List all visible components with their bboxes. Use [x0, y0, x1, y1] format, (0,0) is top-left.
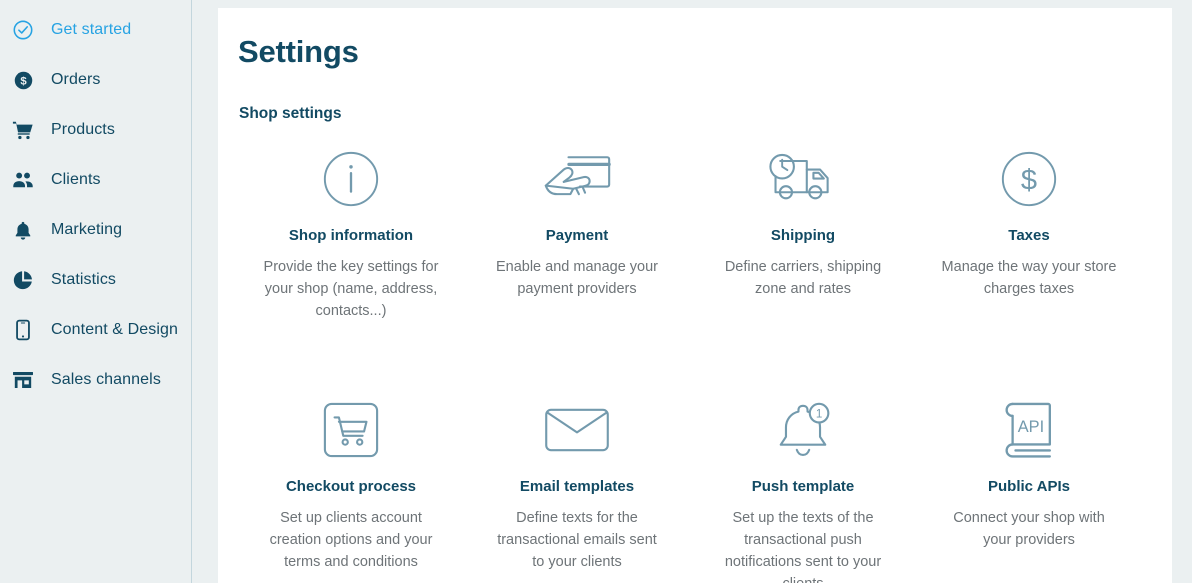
tile-title: Taxes	[1008, 227, 1049, 245]
sidebar-item-statistics[interactable]: Statistics	[0, 264, 191, 296]
tile-description: Set up the texts of the transactional pu…	[716, 507, 891, 583]
tile-title: Shipping	[771, 227, 835, 245]
people-icon	[12, 169, 34, 191]
api-icon-text: API	[1018, 418, 1044, 436]
hand-credit-card-icon	[543, 145, 611, 213]
tile-checkout-process[interactable]: Checkout process Set up clients account …	[238, 396, 464, 583]
sidebar-item-label: Orders	[51, 71, 101, 89]
tile-title: Shop information	[289, 227, 413, 245]
tile-description: Manage the way your store charges taxes	[942, 256, 1117, 300]
sidebar-item-label: Content & Design	[51, 321, 178, 339]
sidebar-item-sales-channels[interactable]: Sales channels	[0, 364, 191, 396]
section-title-shop-settings: Shop settings	[239, 105, 1142, 123]
pie-chart-icon	[12, 269, 34, 291]
svg-text:$: $	[20, 75, 27, 87]
dollar-circle-outline-icon: $	[995, 145, 1063, 213]
tile-push-template[interactable]: 1 Push template Set up the texts of the …	[690, 396, 916, 583]
bell-icon	[12, 219, 34, 241]
tile-description: Define carriers, shipping zone and rates	[716, 256, 891, 300]
envelope-icon	[543, 396, 611, 464]
push-badge-count: 1	[816, 407, 822, 420]
dollar-circle-icon: $	[12, 69, 34, 91]
main-content: Settings Shop settings Shop information …	[192, 0, 1192, 583]
info-circle-icon	[317, 145, 385, 213]
svg-text:$: $	[1021, 165, 1037, 197]
sidebar-item-products[interactable]: Products	[0, 114, 191, 146]
tile-description: Set up clients account creation options …	[264, 507, 439, 573]
page-title: Settings	[238, 34, 1142, 70]
sidebar-item-orders[interactable]: $ Orders	[0, 64, 191, 96]
settings-tile-grid-row-1: Shop information Provide the key setting…	[238, 145, 1142, 322]
tile-title: Checkout process	[286, 478, 416, 496]
sidebar-item-label: Get started	[51, 21, 131, 39]
tile-title: Payment	[546, 227, 609, 245]
settings-tile-grid-row-2: Checkout process Set up clients account …	[238, 396, 1142, 583]
sidebar: Get started $ Orders Products	[0, 0, 192, 583]
sidebar-item-content-design[interactable]: Content & Design	[0, 314, 191, 346]
tile-shipping[interactable]: Shipping Define carriers, shipping zone …	[690, 145, 916, 322]
storefront-icon	[12, 369, 34, 391]
sidebar-item-label: Marketing	[51, 221, 122, 239]
tile-description: Define texts for the transactional email…	[490, 507, 665, 573]
tile-shop-information[interactable]: Shop information Provide the key setting…	[238, 145, 464, 322]
settings-card: Settings Shop settings Shop information …	[218, 8, 1172, 583]
delivery-truck-clock-icon	[769, 145, 837, 213]
sidebar-item-label: Clients	[51, 171, 101, 189]
tile-description: Connect your shop with your providers	[942, 507, 1117, 551]
sidebar-item-marketing[interactable]: Marketing	[0, 214, 191, 246]
sidebar-item-label: Sales channels	[51, 371, 161, 389]
tile-public-apis[interactable]: API Public APIs Connect your shop with y…	[916, 396, 1142, 583]
tile-description: Provide the key settings for your shop (…	[264, 256, 439, 322]
tile-title: Public APIs	[988, 478, 1070, 496]
row-spacer	[238, 322, 1142, 374]
tile-taxes[interactable]: $ Taxes Manage the way your store charge…	[916, 145, 1142, 322]
tile-title: Email templates	[520, 478, 634, 496]
sidebar-item-label: Statistics	[51, 271, 116, 289]
sidebar-item-label: Products	[51, 121, 115, 139]
tile-payment[interactable]: Payment Enable and manage your payment p…	[464, 145, 690, 322]
tile-description: Enable and manage your payment providers	[490, 256, 665, 300]
tile-email-templates[interactable]: Email templates Define texts for the tra…	[464, 396, 690, 583]
sidebar-item-get-started[interactable]: Get started	[0, 14, 191, 46]
tile-title: Push template	[752, 478, 855, 496]
app-root: Get started $ Orders Products	[0, 0, 1192, 583]
api-book-icon: API	[995, 396, 1063, 464]
sidebar-item-clients[interactable]: Clients	[0, 164, 191, 196]
check-circle-icon	[12, 19, 34, 41]
cart-square-icon	[317, 396, 385, 464]
mobile-phone-icon	[12, 319, 34, 341]
bell-notification-icon: 1	[769, 396, 837, 464]
shopping-cart-icon	[12, 119, 34, 141]
